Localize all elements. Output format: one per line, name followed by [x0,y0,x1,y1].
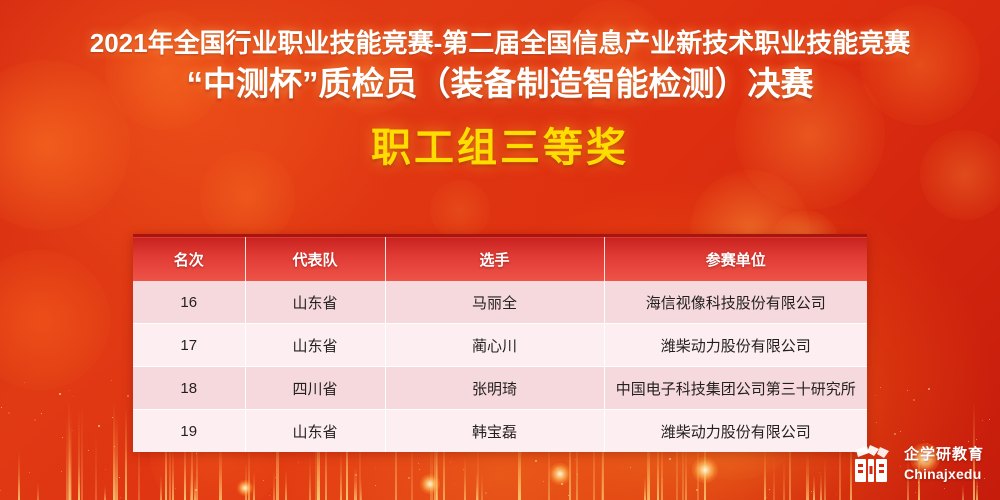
rank-cell: 19 [133,410,245,453]
brand-logo: 企学研教育 Chinajxedu [853,444,984,484]
competition-title-line1: 2021年全国行业职业技能竞赛-第二届全国信息产业新技术职业技能竞赛 [0,26,1000,60]
competition-title-line2: “中测杯”质检员（装备制造智能检测）决赛 [0,62,1000,106]
poster-title-block: 2021年全国行业职业技能竞赛-第二届全国信息产业新技术职业技能竞赛 “中测杯”… [0,26,1000,174]
brand-name-en: Chinajxedu [904,467,984,481]
team-cell: 山东省 [245,281,385,324]
unit-cell: 潍柴动力股份有限公司 [604,324,867,367]
results-table: 名次 代表队 选手 参赛单位 16山东省马丽全海信视像科技股份有限公司17山东省… [133,234,867,452]
rank-cell: 16 [133,281,245,324]
column-header-unit: 参赛单位 [604,236,867,282]
brand-logo-text: 企学研教育 Chinajxedu [904,447,984,481]
table-row: 19山东省韩宝磊潍柴动力股份有限公司 [133,410,867,453]
table-row: 18四川省张明琦中国电子科技集团公司第三十研究所 [133,367,867,410]
player-cell: 韩宝磊 [385,410,604,453]
table-header-row: 名次 代表队 选手 参赛单位 [133,236,867,282]
player-cell: 蔺心川 [385,324,604,367]
brand-name-cn: 企学研教育 [904,447,984,462]
rank-cell: 18 [133,367,245,410]
team-cell: 山东省 [245,324,385,367]
unit-cell: 海信视像科技股份有限公司 [604,281,867,324]
team-cell: 山东省 [245,410,385,453]
unit-cell: 中国电子科技集团公司第三十研究所 [604,367,867,410]
team-cell: 四川省 [245,367,385,410]
results-table-body: 16山东省马丽全海信视像科技股份有限公司17山东省蔺心川潍柴动力股份有限公司18… [133,281,867,452]
player-cell: 张明琦 [385,367,604,410]
column-header-player: 选手 [385,236,604,282]
award-category-title: 职工组三等奖 [0,122,1000,174]
company-seal-icon [853,444,897,484]
column-header-team: 代表队 [245,236,385,282]
table-row: 17山东省蔺心川潍柴动力股份有限公司 [133,324,867,367]
player-cell: 马丽全 [385,281,604,324]
column-header-rank: 名次 [133,236,245,282]
results-table-container: 名次 代表队 选手 参赛单位 16山东省马丽全海信视像科技股份有限公司17山东省… [133,234,867,452]
award-poster: 2021年全国行业职业技能竞赛-第二届全国信息产业新技术职业技能竞赛 “中测杯”… [0,0,1000,500]
table-row: 16山东省马丽全海信视像科技股份有限公司 [133,281,867,324]
rank-cell: 17 [133,324,245,367]
unit-cell: 潍柴动力股份有限公司 [604,410,867,453]
